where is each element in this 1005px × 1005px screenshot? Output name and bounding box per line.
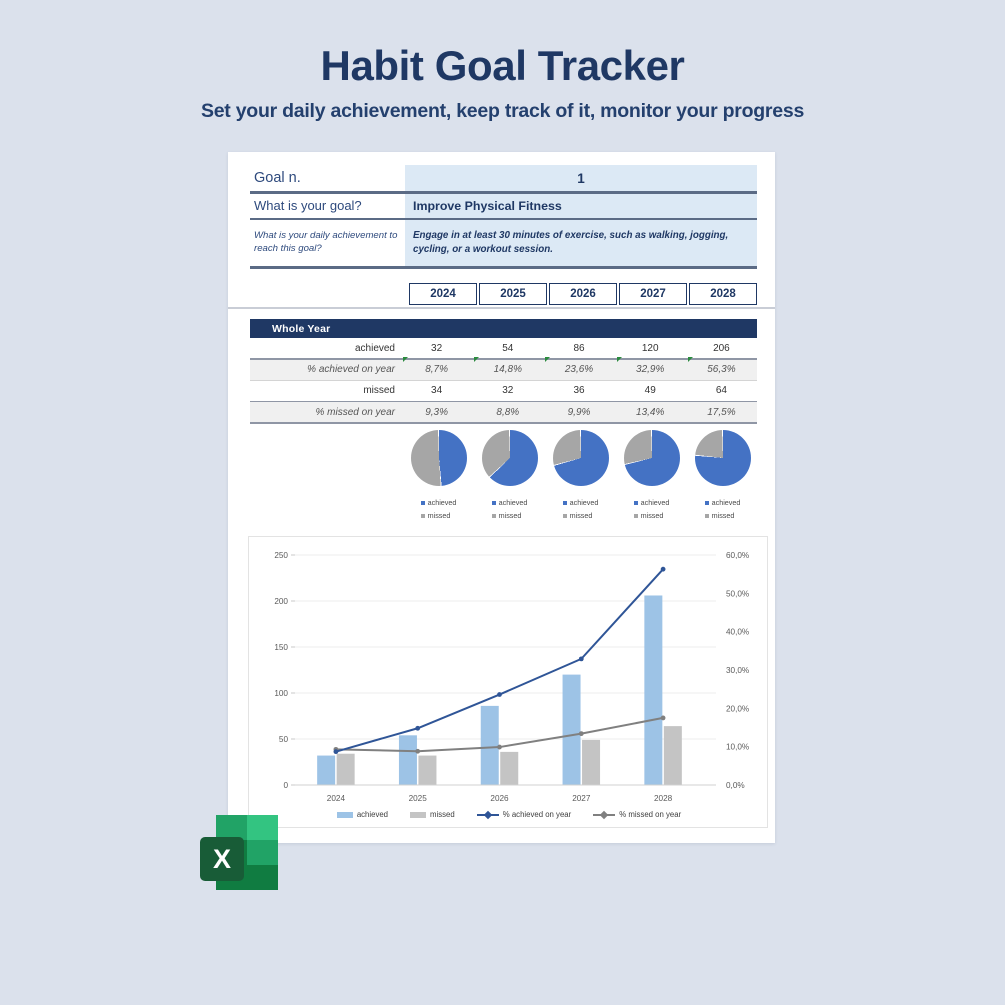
legend-marker-icon (337, 812, 353, 818)
row-cells: 325486120206 (401, 343, 757, 354)
line-achieved-pct-point-2026 (497, 692, 502, 697)
pie-chart-2025[interactable]: achievedmissed (474, 430, 545, 522)
legend-achieved: achieved (634, 497, 670, 510)
line-missed-pct-point-2025 (415, 749, 420, 754)
bar-missed-2024 (337, 754, 355, 785)
pie-graphic (482, 430, 538, 486)
line-achieved-pct (336, 569, 663, 751)
row-cells: 9,3%8,8%9,9%13,4%17,5% (401, 407, 757, 418)
legend-swatch-icon (421, 501, 425, 505)
combo-chart[interactable]: 0501001502002500,0%10,0%20,0%30,0%40,0%5… (248, 536, 768, 828)
y2-axis-tick: 40,0% (726, 628, 749, 637)
screenshot-root: Habit Goal Tracker Set your daily achiev… (0, 0, 1005, 1005)
table-cell[interactable]: 32,9% (615, 364, 686, 375)
y-axis-tick: 250 (274, 551, 288, 560)
table-cell[interactable]: 54 (472, 343, 543, 354)
row-cells: 8,7%14,8%23,6%32,9%56,3% (401, 364, 757, 375)
table-cell[interactable]: 64 (686, 385, 757, 396)
pie-graphic (411, 430, 467, 486)
legend-swatch-icon (563, 514, 567, 518)
year-header-2025[interactable]: 2025 (479, 283, 547, 305)
table-cell[interactable]: 206 (686, 343, 757, 354)
y-axis-tick: 100 (274, 689, 288, 698)
table-cell[interactable]: 56,3% (686, 364, 757, 375)
goal-number-value[interactable]: 1 (405, 165, 757, 191)
legend-item--missed-on-year[interactable]: % missed on year (593, 810, 681, 819)
goal-question-value[interactable]: Improve Physical Fitness (405, 194, 757, 218)
year-header-row: 20242025202620272028 (409, 283, 757, 305)
row-cells: 3432364964 (401, 385, 757, 396)
table-cell[interactable]: 120 (615, 343, 686, 354)
pie-chart-2024[interactable]: achievedmissed (403, 430, 474, 522)
table-cell[interactable]: 23,6% (543, 364, 614, 375)
table-row: % missed on year9,3%8,8%9,9%13,4%17,5% (250, 402, 757, 422)
x-axis-tick: 2027 (572, 794, 591, 803)
goal-number-row: Goal n. 1 (250, 165, 757, 191)
pie-legend: achievedmissed (492, 497, 528, 522)
excel-file-icon[interactable]: X (200, 815, 278, 890)
legend-label: missed (430, 810, 455, 819)
comment-flag-icon (617, 357, 622, 362)
legend-label: achieved (357, 810, 388, 819)
y-axis-tick: 50 (279, 735, 289, 744)
table-cell[interactable]: 8,7% (401, 364, 472, 375)
table-cell[interactable]: 17,5% (686, 407, 757, 418)
whole-year-title: Whole Year (250, 319, 757, 338)
x-axis-tick: 2024 (327, 794, 346, 803)
x-axis-tick: 2028 (654, 794, 673, 803)
goal-info-block: Goal n. 1 What is your goal? Improve Phy… (250, 165, 757, 269)
year-underline (228, 307, 775, 309)
bar-achieved-2026 (481, 706, 499, 785)
year-header-2024[interactable]: 2024 (409, 283, 477, 305)
comment-flag-icon (545, 357, 550, 362)
legend-marker-icon (593, 811, 615, 819)
bar-achieved-2027 (563, 675, 581, 785)
pie-legend: achievedmissed (421, 497, 457, 522)
row-label: % missed on year (250, 407, 401, 418)
legend-item--achieved-on-year[interactable]: % achieved on year (477, 810, 571, 819)
legend-swatch-icon (421, 514, 425, 518)
pie-chart-group: achievedmissedachievedmissedachievedmiss… (403, 430, 758, 522)
y2-axis-tick: 50,0% (726, 589, 749, 598)
legend-missed: missed (634, 510, 670, 523)
pie-chart-2028[interactable]: achievedmissed (687, 430, 758, 522)
row-separator (250, 422, 757, 424)
pie-legend: achievedmissed (563, 497, 599, 522)
table-cell[interactable]: 49 (615, 385, 686, 396)
table-row: missed3432364964 (250, 381, 757, 401)
line-missed-pct-point-2028 (661, 716, 666, 721)
y-axis-tick: 0 (283, 781, 288, 790)
legend-marker-icon (410, 812, 426, 818)
line-achieved-pct-point-2028 (661, 567, 666, 572)
legend-achieved: achieved (563, 497, 599, 510)
comment-flag-icon (474, 357, 479, 362)
daily-achievement-label: What is your daily achievement to reach … (250, 220, 405, 266)
whole-year-rows: achieved325486120206% achieved on year8,… (250, 338, 757, 424)
line-achieved-pct-point-2024 (334, 749, 339, 754)
table-row: achieved325486120206 (250, 338, 757, 358)
table-cell[interactable]: 34 (401, 385, 472, 396)
legend-achieved: achieved (421, 497, 457, 510)
line-achieved-pct-point-2025 (415, 726, 420, 731)
y2-axis-tick: 10,0% (726, 743, 749, 752)
year-header-2026[interactable]: 2026 (549, 283, 617, 305)
comment-flag-icon (403, 357, 408, 362)
legend-label: % achieved on year (503, 810, 571, 819)
pie-chart-2026[interactable]: achievedmissed (545, 430, 616, 522)
y2-axis-tick: 20,0% (726, 704, 749, 713)
legend-missed: missed (563, 510, 599, 523)
legend-item-achieved[interactable]: achieved (337, 810, 388, 819)
table-cell[interactable]: 14,8% (472, 364, 543, 375)
pie-graphic (624, 430, 680, 486)
y-axis-tick: 200 (274, 597, 288, 606)
goal-question-label: What is your goal? (250, 194, 405, 218)
bar-missed-2027 (582, 740, 600, 785)
excel-letter: X (200, 837, 244, 881)
legend-swatch-icon (492, 514, 496, 518)
divider-3 (250, 266, 757, 269)
bar-achieved-2025 (399, 735, 417, 785)
daily-achievement-row: What is your daily achievement to reach … (250, 220, 757, 266)
x-axis-tick: 2025 (409, 794, 428, 803)
legend-marker-icon (477, 811, 499, 819)
table-cell[interactable]: 32 (401, 343, 472, 354)
legend-missed: missed (421, 510, 457, 523)
legend-swatch-icon (563, 501, 567, 505)
page-header: Habit Goal Tracker Set your daily achiev… (0, 42, 1005, 123)
pie-legend: achievedmissed (634, 497, 670, 522)
combo-chart-svg: 0501001502002500,0%10,0%20,0%30,0%40,0%5… (249, 537, 769, 829)
page-title: Habit Goal Tracker (0, 42, 1005, 89)
bar-achieved-2028 (644, 595, 662, 785)
y2-axis-tick: 0,0% (726, 781, 745, 790)
legend-item-missed[interactable]: missed (410, 810, 455, 819)
legend-swatch-icon (634, 501, 638, 505)
x-axis-tick: 2026 (490, 794, 509, 803)
line-missed-pct-point-2026 (497, 745, 502, 750)
bar-missed-2025 (418, 756, 436, 785)
row-label: achieved (250, 343, 401, 354)
y2-axis-tick: 30,0% (726, 666, 749, 675)
legend-swatch-icon (705, 514, 709, 518)
pie-graphic (553, 430, 609, 486)
legend-label: % missed on year (619, 810, 681, 819)
pie-chart-2027[interactable]: achievedmissed (616, 430, 687, 522)
y2-axis-tick: 60,0% (726, 551, 749, 560)
spreadsheet-document[interactable]: Goal n. 1 What is your goal? Improve Phy… (228, 152, 775, 843)
combo-chart-legend: achievedmissed% achieved on year% missed… (249, 810, 769, 819)
y-axis-tick: 150 (274, 643, 288, 652)
legend-swatch-icon (634, 514, 638, 518)
line-achieved-pct-point-2027 (579, 656, 584, 661)
legend-swatch-icon (705, 501, 709, 505)
goal-question-row: What is your goal? Improve Physical Fitn… (250, 194, 757, 218)
legend-achieved: achieved (492, 497, 528, 510)
row-label: missed (250, 385, 401, 396)
bar-missed-2028 (664, 726, 682, 785)
table-cell[interactable]: 9,3% (401, 407, 472, 418)
bar-missed-2026 (500, 752, 518, 785)
pie-graphic (695, 430, 751, 486)
goal-number-label: Goal n. (250, 165, 405, 191)
page-subtitle: Set your daily achievement, keep track o… (0, 100, 1005, 123)
year-header-2028[interactable]: 2028 (689, 283, 757, 305)
table-cell[interactable]: 13,4% (615, 407, 686, 418)
pie-legend: achievedmissed (705, 497, 741, 522)
comment-flag-icon (688, 357, 693, 362)
table-cell[interactable]: 32 (472, 385, 543, 396)
row-label: % achieved on year (250, 364, 401, 375)
table-cell[interactable]: 9,9% (543, 407, 614, 418)
table-cell[interactable]: 36 (543, 385, 614, 396)
year-header-2027[interactable]: 2027 (619, 283, 687, 305)
daily-achievement-value[interactable]: Engage in at least 30 minutes of exercis… (405, 220, 757, 266)
table-cell[interactable]: 86 (543, 343, 614, 354)
table-row: % achieved on year8,7%14,8%23,6%32,9%56,… (250, 360, 757, 380)
bar-achieved-2024 (317, 756, 335, 785)
table-cell[interactable]: 8,8% (472, 407, 543, 418)
legend-swatch-icon (492, 501, 496, 505)
legend-achieved: achieved (705, 497, 741, 510)
legend-missed: missed (492, 510, 528, 523)
whole-year-table: Whole Year achieved325486120206% achieve… (250, 319, 757, 424)
line-missed-pct-point-2027 (579, 731, 584, 736)
legend-missed: missed (705, 510, 741, 523)
